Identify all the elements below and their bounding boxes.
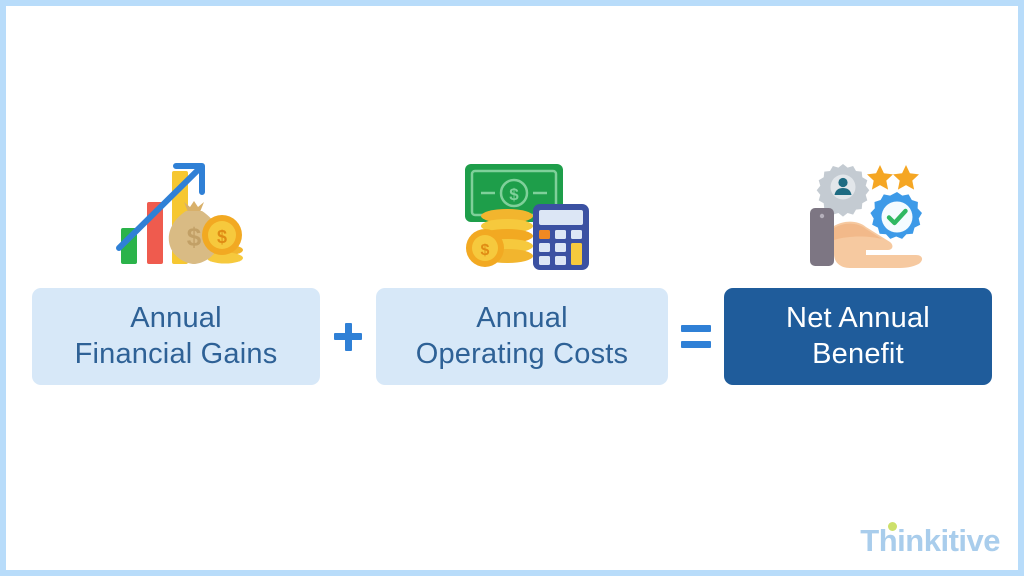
svg-text:$: $ [217,227,227,247]
equals-operator [668,288,724,385]
term-net-annual-benefit: Net Annual Benefit [724,156,992,385]
svg-text:$: $ [187,222,202,252]
equals-bottom-bar-icon [681,341,711,348]
hand-service-quality-badge-icon [798,156,928,276]
term-label-line1: Net Annual [786,302,930,334]
slide-canvas: $ $ Annual Financial Gains [0,0,1024,576]
term-label-line2: Operating Costs [416,338,629,370]
term-label-box-net-annual-benefit: Net Annual Benefit [724,288,992,385]
plus-vertical-bar-icon [345,323,352,351]
thinkitive-logo: Thinkitive [860,525,1000,556]
term-label-line2: Financial Gains [75,338,278,370]
cash-coins-calculator-icon: $ $ [457,156,587,276]
coin-pile-icon: $ [463,208,539,268]
svg-text:$: $ [481,242,490,259]
equation-row: $ $ Annual Financial Gains [6,156,1018,385]
term-annual-operating-costs: $ $ [376,156,668,385]
svg-text:$: $ [509,185,519,204]
growth-chart-money-bag-icon: $ $ [106,156,236,276]
logo-text: Thinkitive [860,523,1000,558]
term-annual-financial-gains: $ $ Annual Financial Gains [32,156,320,385]
term-label-box-operating-costs: Annual Operating Costs [376,288,668,385]
plus-operator [320,288,376,385]
term-label-box-financial-gains: Annual Financial Gains [32,288,320,385]
gold-coin-icon: $ [201,214,243,256]
two-stars-icon [866,164,920,194]
open-hand-icon [804,202,926,272]
equals-top-bar-icon [681,325,711,332]
term-label-line1: Annual [476,302,568,334]
term-label-line2: Benefit [812,338,904,370]
calculator-icon [533,204,589,270]
term-label-line1: Annual [130,302,222,334]
